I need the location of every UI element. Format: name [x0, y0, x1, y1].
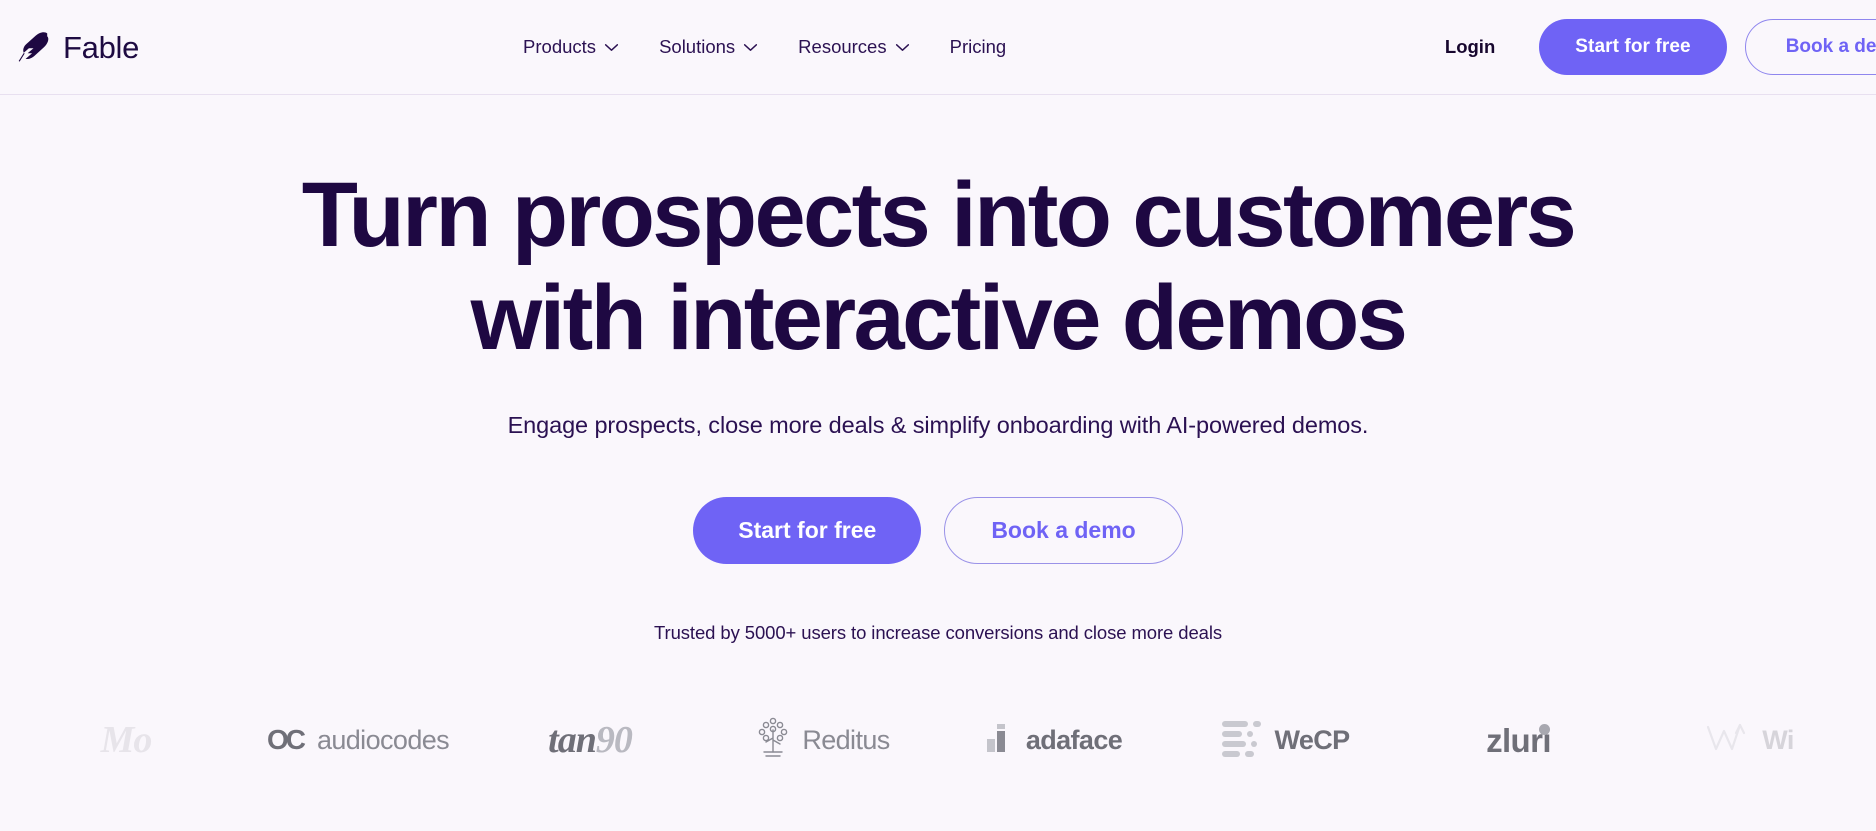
- lines-icon: [1222, 719, 1264, 762]
- hero-title-line-1: Turn prospects into customers: [302, 164, 1574, 266]
- brand-name: Fable: [63, 32, 139, 63]
- logo-label: tan: [548, 719, 596, 761]
- logo-label: adaface: [1026, 727, 1122, 754]
- logo-audiocodes: OC audiocodes: [242, 680, 474, 800]
- tree-icon: [754, 716, 792, 765]
- logo-label: Reditus: [802, 727, 889, 754]
- header-book-a-demo-button[interactable]: Book a demo: [1745, 19, 1876, 75]
- main-nav: Products Solutions Resources Pricing: [523, 38, 1006, 57]
- w-mark-icon: [1706, 721, 1752, 760]
- nav-item-label: Resources: [798, 38, 886, 57]
- logo-label: audiocodes: [317, 727, 449, 754]
- logo-label: Mo: [101, 718, 152, 762]
- nav-item-products[interactable]: Products: [523, 38, 619, 57]
- nav-item-label: Pricing: [950, 38, 1007, 57]
- feather-quill-icon: [14, 27, 54, 67]
- chevron-down-icon: [743, 43, 758, 52]
- nav-item-pricing[interactable]: Pricing: [950, 38, 1007, 57]
- header-actions: Login Start for free Book a demo: [1445, 19, 1876, 75]
- logo-reditus: Reditus: [706, 680, 938, 800]
- nav-item-solutions[interactable]: Solutions: [659, 38, 758, 57]
- audiocodes-mark-icon: OC: [267, 724, 303, 756]
- chevron-down-icon: [604, 43, 619, 52]
- hero-book-a-demo-button[interactable]: Book a demo: [944, 497, 1182, 564]
- zluri-dot-icon: [1539, 724, 1550, 735]
- logo-label-suffix: 90: [596, 719, 632, 761]
- brand-logo[interactable]: Fable: [12, 27, 139, 67]
- hero-section: Turn prospects into customers with inter…: [0, 95, 1876, 800]
- logo-label: WeCP: [1274, 727, 1349, 754]
- nav-item-label: Solutions: [659, 38, 735, 57]
- site-header: Fable Products Solutions Resources Prici…: [0, 0, 1876, 95]
- page-title: Turn prospects into customers with inter…: [213, 169, 1663, 364]
- nav-item-label: Products: [523, 38, 596, 57]
- chevron-down-icon: [895, 43, 910, 52]
- hero-subtitle: Engage prospects, close more deals & sim…: [0, 412, 1876, 439]
- logo-vimeo-partial: Mo: [10, 680, 242, 800]
- logo-zluri: zluri: [1402, 680, 1634, 800]
- header-start-for-free-button[interactable]: Start for free: [1539, 19, 1726, 75]
- login-link[interactable]: Login: [1445, 36, 1495, 58]
- hero-title-line-2: with interactive demos: [213, 272, 1663, 364]
- hero-cta-group: Start for free Book a demo: [0, 497, 1876, 564]
- logo-wecp: WeCP: [1170, 680, 1402, 800]
- nav-item-resources[interactable]: Resources: [798, 38, 909, 57]
- hero-start-for-free-button[interactable]: Start for free: [693, 497, 921, 564]
- logo-tan90: tan90: [474, 680, 706, 800]
- customer-logo-strip: Mo OC audiocodes tan90: [0, 680, 1876, 800]
- trusted-by-text: Trusted by 5000+ users to increase conve…: [0, 622, 1876, 644]
- bar-chart-icon: [986, 723, 1016, 758]
- logo-label: Wi: [1762, 727, 1794, 754]
- logo-wiz-partial: Wi: [1634, 680, 1866, 800]
- logo-adaface: adaface: [938, 680, 1170, 800]
